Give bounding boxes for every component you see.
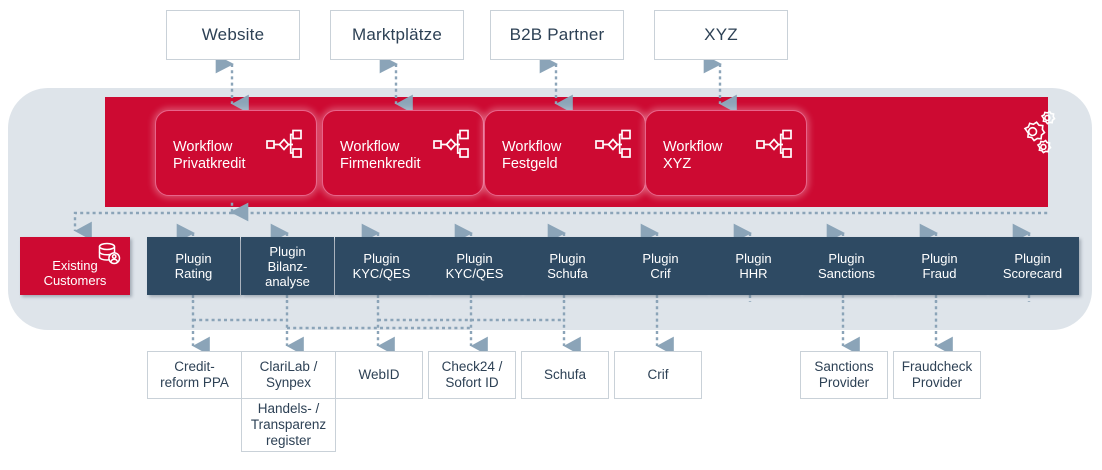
channel-box-xyz[interactable]: XYZ (654, 10, 788, 60)
gears-icon (1008, 108, 1060, 160)
plugin-schufa[interactable]: Plugin Schufa (521, 237, 614, 295)
channel-label: XYZ (704, 25, 738, 45)
plugin-scorecard[interactable]: Plugin Scorecard (986, 237, 1079, 295)
workflow-card-firmenkredit[interactable]: Workflow Firmenkredit (322, 110, 484, 196)
provider-label: Handels- / Transparenz register (251, 401, 326, 449)
plugin-label: Plugin KYC/QES (446, 251, 504, 281)
workflow-card-xyz[interactable]: Workflow XYZ (645, 110, 807, 196)
provider-label: Fraudcheck Provider (902, 359, 973, 391)
provider-label: Check24 / Sofort ID (442, 359, 503, 391)
workflow-card-label: Workflow Privatkredit (173, 139, 246, 173)
plugin-sanctions[interactable]: Plugin Sanctions (800, 237, 893, 295)
plugin-label: Plugin Crif (642, 251, 678, 281)
provider-label: ClariLab / Synpex (260, 359, 318, 391)
architecture-diagram: Website Marktplätze B2B Partner XYZ Work… (0, 0, 1102, 470)
plugin-label: Plugin Bilanz- analyse (265, 244, 310, 289)
provider-handelsregister[interactable]: Handels- / Transparenz register (241, 398, 336, 452)
plugin-kyc-qes-1[interactable]: Plugin KYC/QES (335, 237, 428, 295)
existing-customers-box[interactable]: Existing Customers (20, 237, 130, 295)
provider-fraudcheck[interactable]: Fraudcheck Provider (893, 351, 981, 399)
provider-creditreform-ppa[interactable]: Credit- reform PPA (147, 351, 242, 399)
channel-label: Marktplätze (352, 25, 442, 45)
provider-crif[interactable]: Crif (614, 351, 702, 399)
workflow-card-privatkredit[interactable]: Workflow Privatkredit (155, 110, 317, 196)
plugin-bilanzanalyse[interactable]: Plugin Bilanz- analyse (241, 237, 334, 295)
plugin-rating[interactable]: Plugin Rating (147, 237, 240, 295)
workflow-card-label: Workflow XYZ (663, 139, 722, 173)
provider-label: Crif (648, 367, 669, 383)
plugin-label: Plugin Scorecard (1003, 251, 1062, 281)
workflow-node-icon (756, 129, 792, 159)
provider-clarilab-synpex[interactable]: ClariLab / Synpex (241, 351, 336, 399)
provider-label: Schufa (544, 367, 586, 383)
plugin-label: Plugin HHR (735, 251, 771, 281)
channel-box-marktplaetze[interactable]: Marktplätze (330, 10, 464, 60)
plugin-hhr[interactable]: Plugin HHR (707, 237, 800, 295)
workflow-card-festgeld[interactable]: Workflow Festgeld (484, 110, 646, 196)
channel-label: B2B Partner (510, 25, 605, 45)
plugin-fraud[interactable]: Plugin Fraud (893, 237, 986, 295)
channel-label: Website (202, 25, 265, 45)
provider-label: Sanctions Provider (814, 359, 873, 391)
plugin-crif[interactable]: Plugin Crif (614, 237, 707, 295)
provider-schufa[interactable]: Schufa (521, 351, 609, 399)
plugin-label: Plugin Rating (175, 251, 213, 281)
channel-box-b2b-partner[interactable]: B2B Partner (490, 10, 624, 60)
database-user-icon (96, 242, 122, 266)
workflow-node-icon (266, 129, 302, 159)
channel-box-website[interactable]: Website (166, 10, 300, 60)
plugin-label: Plugin Sanctions (818, 251, 875, 281)
workflow-node-icon (433, 129, 469, 159)
workflow-card-label: Workflow Firmenkredit (340, 139, 421, 173)
plugin-kyc-qes-2[interactable]: Plugin KYC/QES (428, 237, 521, 295)
plugin-label: Plugin Schufa (547, 251, 587, 281)
plugin-label: Plugin KYC/QES (353, 251, 411, 281)
plugin-label: Plugin Fraud (921, 251, 957, 281)
provider-webid[interactable]: WebID (335, 351, 423, 399)
workflow-node-icon (595, 129, 631, 159)
provider-label: Credit- reform PPA (160, 359, 229, 391)
provider-sanctions[interactable]: Sanctions Provider (800, 351, 888, 399)
provider-check24-sofortid[interactable]: Check24 / Sofort ID (428, 351, 516, 399)
workflow-card-label: Workflow Festgeld (502, 139, 561, 173)
provider-label: WebID (358, 367, 399, 383)
